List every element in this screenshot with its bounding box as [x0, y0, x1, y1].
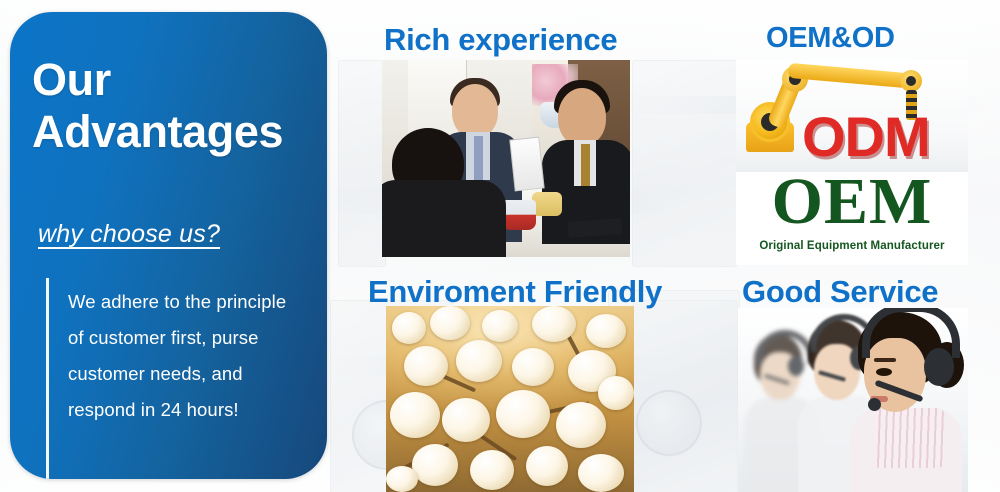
- photo-cotton-field: [386, 306, 634, 492]
- agent-eyebrow: [874, 358, 896, 362]
- person-head: [452, 84, 498, 138]
- section-heading-good-service: Good Service: [742, 274, 938, 310]
- cotton-boll: [390, 392, 440, 438]
- page-title-line-2: Advantages: [32, 106, 317, 158]
- person-tie: [474, 136, 483, 180]
- meeting-menu-card: [509, 137, 544, 192]
- cotton-boll: [392, 312, 426, 344]
- headset-mic-tip-icon: [868, 398, 881, 411]
- meeting-drink-cup: [502, 200, 536, 230]
- photo-business-meeting: [382, 60, 630, 257]
- cotton-boll: [598, 376, 634, 410]
- cotton-boll: [496, 390, 550, 438]
- page-title: Our Advantages: [32, 54, 317, 158]
- advantages-banner: Our Advantages why choose us? We adhere …: [0, 0, 1000, 492]
- agent-eye: [876, 368, 892, 376]
- cotton-boll: [470, 450, 514, 490]
- oem-caption: Original Equipment Manufacturer: [736, 240, 968, 252]
- cotton-boll: [386, 466, 418, 492]
- cotton-boll: [556, 402, 606, 448]
- person-suit: [382, 180, 506, 257]
- cotton-boll: [512, 348, 554, 386]
- cotton-boll: [578, 454, 624, 492]
- cotton-boll: [586, 314, 626, 348]
- cotton-boll: [532, 306, 576, 342]
- section-heading-rich-experience: Rich experience: [384, 22, 617, 58]
- panel-divider-rule: [46, 278, 49, 479]
- cotton-boll: [482, 310, 518, 342]
- section-heading-enviroment-friendly: Enviroment Friendly: [368, 274, 662, 310]
- person-tie: [581, 144, 590, 186]
- panel-body-text: We adhere to the principle of customer f…: [68, 284, 304, 428]
- background-machine: [632, 60, 738, 267]
- photo-oem-odm-graphic: ODM OEM Original Equipment Manufacturer: [736, 60, 968, 265]
- background-machine-dial: [636, 390, 702, 456]
- meeting-food-bowl: [532, 192, 562, 216]
- cotton-boll: [526, 446, 568, 486]
- cotton-boll: [442, 398, 490, 442]
- headset-earpiece-icon: [924, 348, 954, 386]
- odm-label: ODM: [802, 104, 930, 169]
- robot-arm-wrist-icon: [900, 70, 922, 92]
- cotton-boll: [456, 340, 502, 382]
- photo-customer-service: [738, 308, 968, 492]
- cotton-boll: [404, 346, 448, 386]
- person-head: [558, 88, 606, 146]
- background-machine: [338, 60, 386, 267]
- cotton-boll: [430, 306, 470, 340]
- agent-collar: [874, 408, 944, 468]
- cotton-boll: [412, 444, 458, 486]
- oem-label: OEM: [736, 164, 968, 240]
- section-heading-oem-od: OEM&OD: [766, 22, 895, 55]
- advantages-panel: Our Advantages why choose us? We adhere …: [10, 12, 327, 479]
- headset-earpiece-icon: [788, 356, 804, 376]
- panel-subtitle: why choose us?: [38, 220, 220, 249]
- page-title-line-1: Our: [32, 54, 111, 105]
